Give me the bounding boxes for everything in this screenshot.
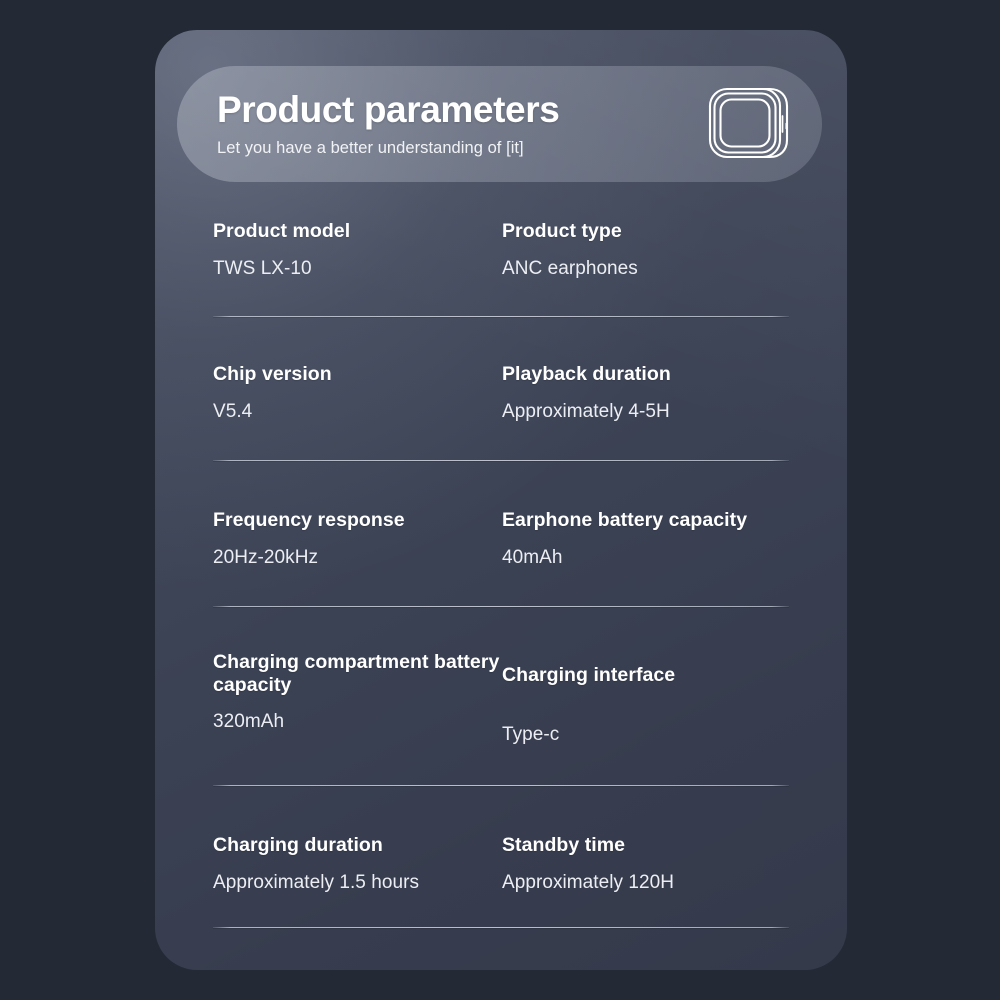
- spec-label: Frequency response: [213, 509, 501, 532]
- spec-value: Approximately 4-5H: [502, 401, 789, 424]
- spec-cell-left: Charging compartment battery capacity 32…: [213, 607, 501, 747]
- spec-value: 320mAh: [213, 711, 501, 734]
- spec-value: TWS LX-10: [213, 258, 501, 281]
- page-title: Product parameters: [217, 90, 700, 130]
- row-divider: [213, 927, 789, 928]
- spec-label: Standby time: [502, 834, 789, 857]
- table-row: Charging compartment battery capacity 32…: [213, 607, 789, 786]
- spec-cell-right: Standby time Approximately 120H: [501, 786, 789, 895]
- spec-value: 20Hz-20kHz: [213, 547, 501, 570]
- product-parameters-screen: Product parameters Let you have a better…: [0, 0, 1000, 1000]
- table-row: Frequency response 20Hz-20kHz Earphone b…: [213, 461, 789, 608]
- table-row: Charging duration Approximately 1.5 hour…: [213, 786, 789, 928]
- spec-cell-right: Earphone battery capacity 40mAh: [501, 461, 789, 570]
- spec-cell-right: Product type ANC earphones: [501, 220, 789, 281]
- page-subtitle: Let you have a better understanding of […: [217, 139, 700, 158]
- spec-value: Approximately 120H: [502, 872, 789, 895]
- spec-label: Charging interface: [502, 664, 789, 687]
- spec-cell-left: Product model TWS LX-10: [213, 220, 501, 281]
- table-row: Chip version V5.4 Playback duration Appr…: [213, 317, 789, 461]
- header-banner: Product parameters Let you have a better…: [177, 66, 822, 182]
- spec-value: Approximately 1.5 hours: [213, 872, 501, 895]
- spec-label: Earphone battery capacity: [502, 509, 789, 532]
- earphone-case-icon: [700, 78, 796, 170]
- spec-label: Chip version: [213, 363, 501, 386]
- table-row: Product model TWS LX-10 Product type ANC…: [213, 220, 789, 317]
- spec-card: Product parameters Let you have a better…: [155, 30, 847, 970]
- spec-label: Playback duration: [502, 363, 789, 386]
- spec-value: V5.4: [213, 401, 501, 424]
- header-text-group: Product parameters Let you have a better…: [217, 90, 700, 158]
- spec-value: Type-c: [502, 724, 789, 747]
- spec-value: 40mAh: [502, 547, 789, 570]
- spec-label: Product type: [502, 220, 789, 243]
- spec-cell-right: Playback duration Approximately 4-5H: [501, 317, 789, 424]
- spec-label: Charging duration: [213, 834, 501, 857]
- spec-cell-right: Charging interface Type-c: [501, 607, 789, 747]
- spec-label: Product model: [213, 220, 501, 243]
- spec-table: Product model TWS LX-10 Product type ANC…: [213, 220, 789, 928]
- spec-cell-left: Frequency response 20Hz-20kHz: [213, 461, 501, 570]
- spec-cell-left: Chip version V5.4: [213, 317, 501, 424]
- spec-cell-left: Charging duration Approximately 1.5 hour…: [213, 786, 501, 895]
- spec-label: Charging compartment battery capacity: [213, 651, 501, 697]
- spec-value: ANC earphones: [502, 258, 789, 281]
